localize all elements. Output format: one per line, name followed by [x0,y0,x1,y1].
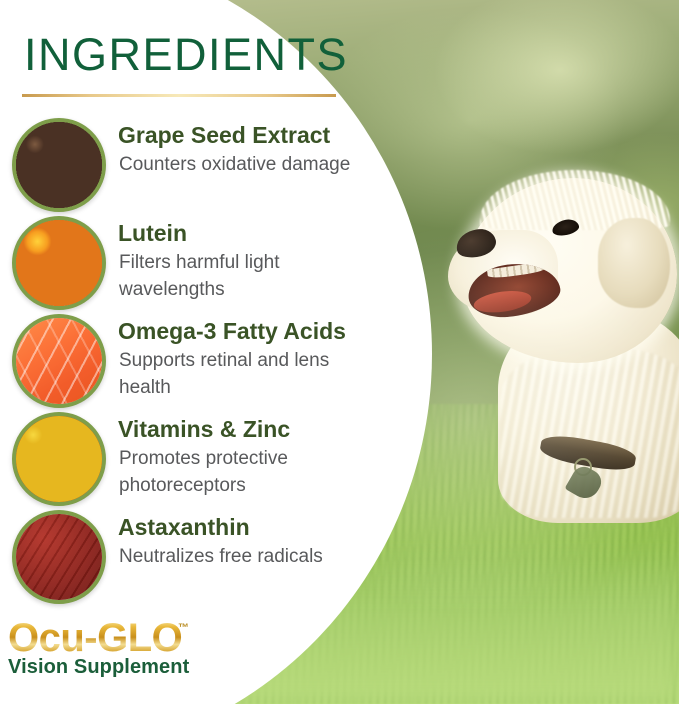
ingredients-infographic: INGREDIENTS Grape Seed Extract Counters … [0,0,679,704]
ingredient-description: Neutralizes free radicals [119,544,379,571]
grape-seed-photo [16,122,102,208]
ingredient-thumb-lutein [12,216,106,310]
ingredient-description: Promotes protective photoreceptors [119,446,379,500]
ingredients-panel: INGREDIENTS Grape Seed Extract Counters … [0,0,400,704]
page-title: INGREDIENTS [24,32,348,77]
ingredient-name: Grape Seed Extract [118,122,330,149]
ingredient-description: Supports retinal and lens health [119,348,379,402]
dog-illustration [440,168,679,528]
ingredient-name: Astaxanthin [118,514,250,541]
title-divider [22,94,336,97]
fruit-salad-photo [16,416,102,502]
ingredient-thumb-grape-seed-extract [12,118,106,212]
dog-tongue [472,288,532,316]
ingredient-thumb-vitamins-zinc [12,412,106,506]
salmon-fillet-photo [16,318,102,404]
ingredient-name: Lutein [118,220,187,247]
ingredient-thumb-omega-3-fatty-acids [12,314,106,408]
brand-logo: Ocu-GLO Vision Supplement [8,618,228,679]
brand-name: Ocu-GLO [8,618,182,658]
astaxanthin-powder-photo [16,514,102,600]
ingredient-name: Vitamins & Zinc [118,416,290,443]
ingredient-thumb-astaxanthin [12,510,106,604]
dog-ear [598,218,670,308]
ingredient-name: Omega-3 Fatty Acids [118,318,346,345]
trademark-symbol: ™ [178,622,189,634]
ingredient-description: Filters harmful light wavelengths [119,250,379,304]
ingredient-description: Counters oxidative damage [119,152,379,179]
marigold-petals-photo [16,220,102,306]
